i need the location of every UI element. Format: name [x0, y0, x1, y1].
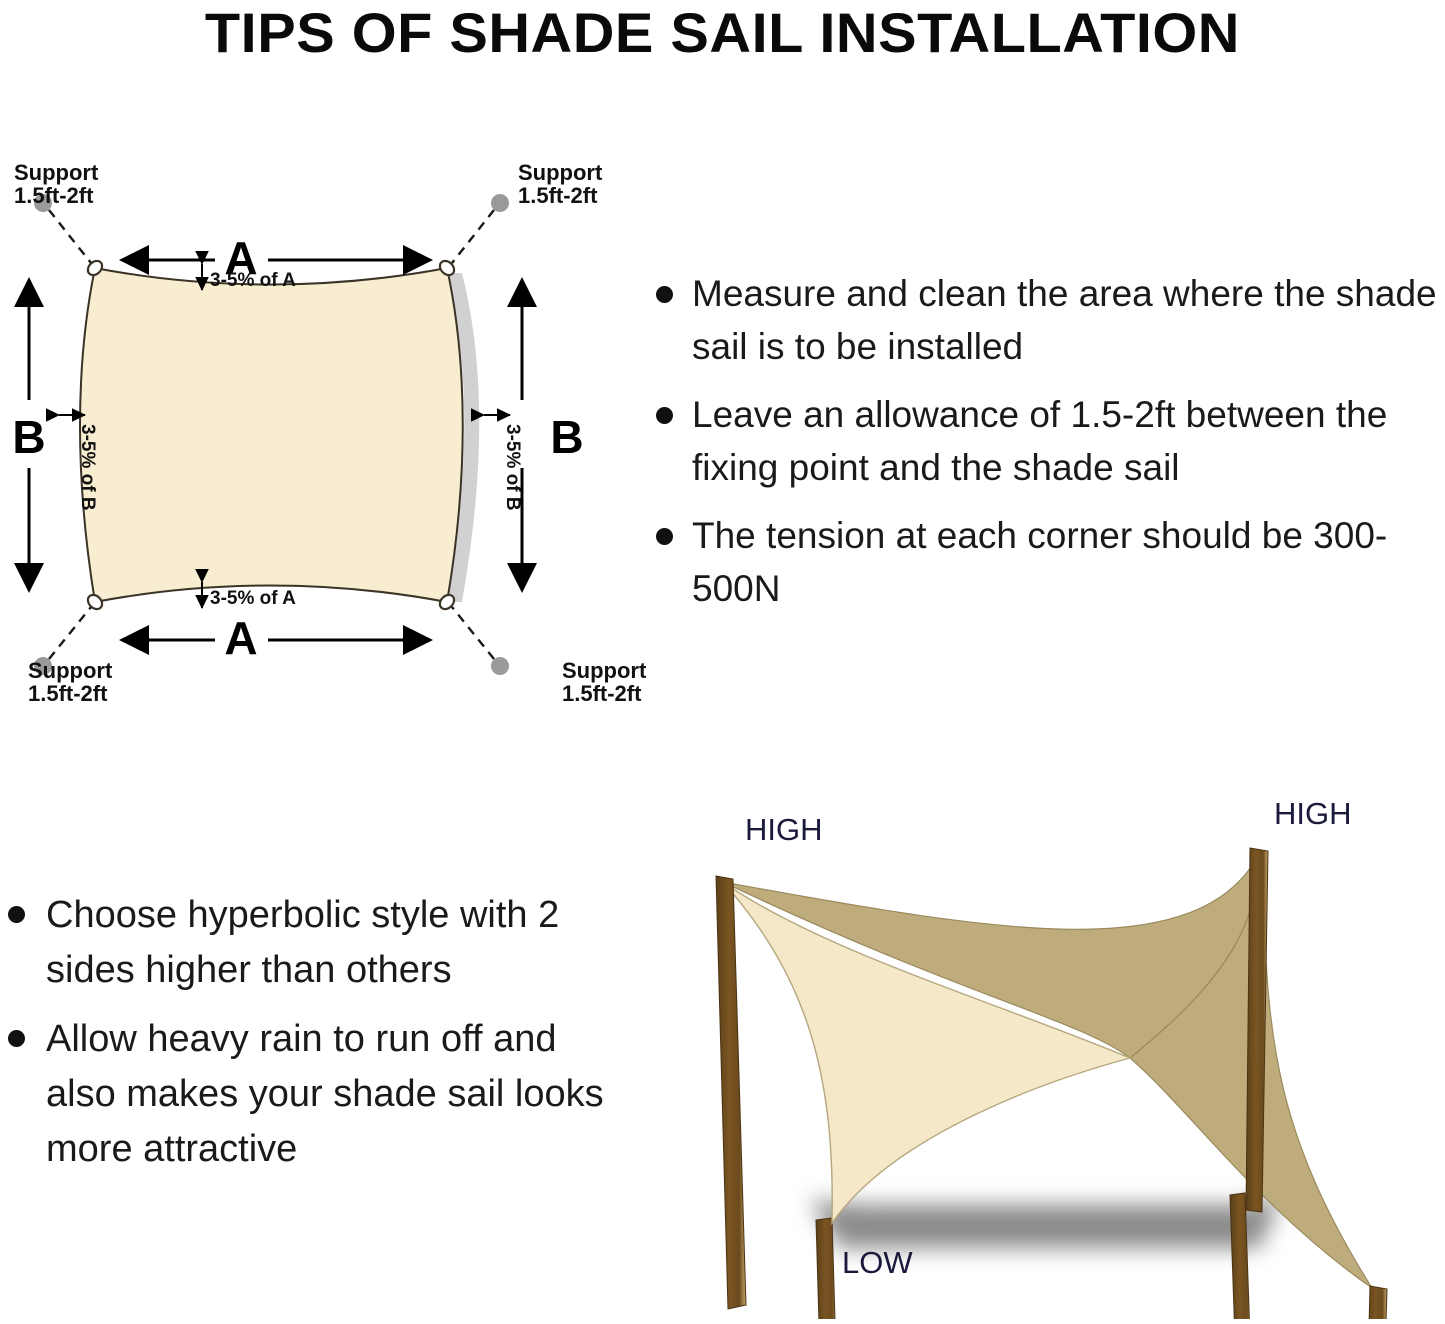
dimension-a-bottom: A [122, 612, 430, 664]
support-tl-line2: 1.5ft-2ft [14, 183, 94, 208]
tip-item-3-text: The tension at each corner should be 300… [692, 515, 1387, 609]
curve-note-b-left-text: 3-5% of B [77, 424, 98, 511]
support-bl-line1: Support [28, 658, 113, 683]
dimension-b-left: B [12, 280, 45, 590]
tip-item-1-text: Measure and clean the area where the sha… [692, 273, 1437, 367]
title-bar: TIPS OF SHADE SAIL INSTALLATION [0, 0, 1445, 66]
post-low-right [1366, 1286, 1387, 1319]
top-section: Support 1.5ft-2ft Support 1.5ft-2ft Supp… [0, 150, 1445, 760]
label-high-left: HIGH [745, 812, 823, 847]
support-br-line1: Support [562, 658, 647, 683]
curve-note-a-bottom-text: 3-5% of A [210, 588, 296, 609]
page-title: TIPS OF SHADE SAIL INSTALLATION [205, 5, 1240, 61]
support-tl-line1: Support [14, 160, 99, 185]
bullet-dot-icon [8, 1030, 25, 1047]
dimension-b-right-letter: B [550, 411, 583, 463]
ground-shadow [810, 1198, 1280, 1248]
hyperbolic-sail-illustration: HIGH HIGH LOW LOW [660, 780, 1445, 1319]
post-high-left [716, 876, 746, 1309]
support-bl-line2: 1.5ft-2ft [28, 681, 108, 706]
rectangular-sail-diagram: Support 1.5ft-2ft Support 1.5ft-2ft Supp… [0, 150, 660, 730]
curve-note-b-right: 3-5% of B [484, 415, 523, 511]
tip-item-1: Measure and clean the area where the sha… [648, 268, 1445, 373]
tip-item-5-text: Allow heavy rain to run off and also mak… [46, 1018, 604, 1170]
tip-item-4-text: Choose hyperbolic style with 2 sides hig… [46, 894, 559, 991]
support-tr-line1: Support [518, 160, 603, 185]
shade-sail-shape [80, 268, 463, 602]
curve-note-b-right-text: 3-5% of B [502, 424, 523, 511]
tips-list-top: Measure and clean the area where the sha… [648, 268, 1445, 615]
label-low-left: LOW [842, 1245, 913, 1280]
bullet-dot-icon [656, 286, 673, 303]
bullet-dot-icon [8, 906, 25, 923]
curve-note-a-top-text: 3-5% of A [210, 270, 296, 291]
tip-item-2: Leave an allowance of 1.5-2ft between th… [648, 389, 1445, 494]
dimension-b-right: B [522, 280, 584, 590]
bullet-dot-icon [656, 528, 673, 545]
curve-note-b-left: 3-5% of B [59, 415, 98, 511]
label-high-right: HIGH [1274, 796, 1352, 831]
tip-item-5: Allow heavy rain to run off and also mak… [0, 1012, 625, 1177]
tip-item-3: The tension at each corner should be 300… [648, 510, 1445, 615]
bottom-section: Choose hyperbolic style with 2 sides hig… [0, 780, 1445, 1319]
support-tr-line2: 1.5ft-2ft [518, 183, 598, 208]
dimension-a-bottom-letter: A [224, 612, 257, 664]
tips-list-bottom: Choose hyperbolic style with 2 sides hig… [0, 888, 625, 1191]
tip-item-2-text: Leave an allowance of 1.5-2ft between th… [692, 394, 1387, 488]
tip-item-4: Choose hyperbolic style with 2 sides hig… [0, 888, 625, 998]
support-br-line2: 1.5ft-2ft [562, 681, 642, 706]
dimension-b-left-letter: B [12, 411, 45, 463]
bullet-dot-icon [656, 407, 673, 424]
